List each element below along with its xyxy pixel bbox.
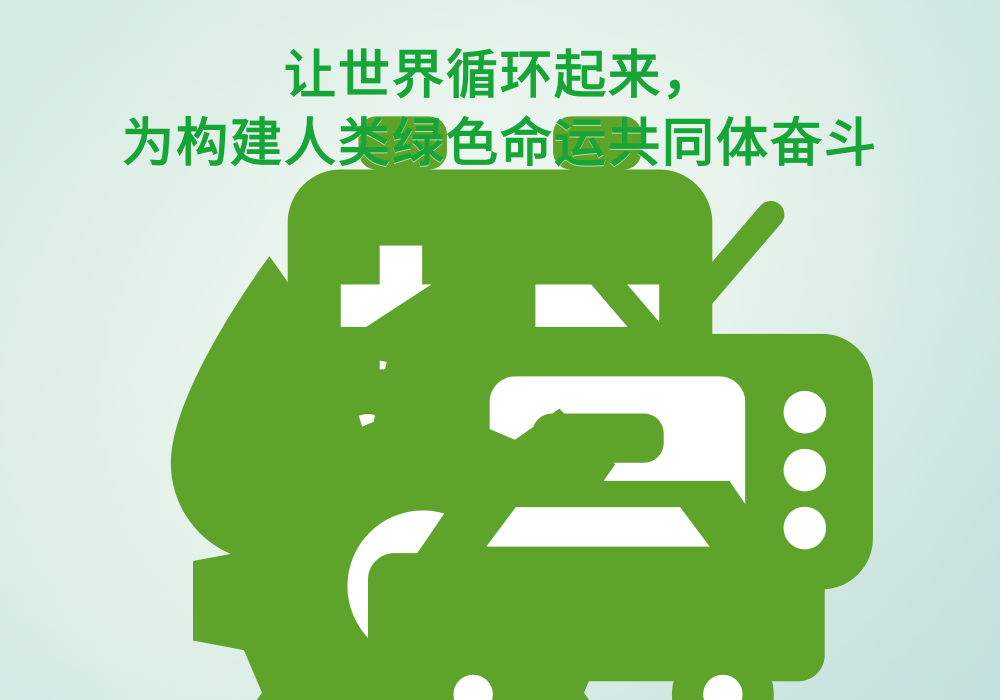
circular-economy-diagram: 废品回收 再利用 材料再造 新能源制品 含金属制造 废旧电池回收 与动力电池材 … [270,218,730,678]
infographic-poster: 让世界循环起来， 为构建人类绿色命运共同体奋斗 [0,0,1000,700]
title-line-2: 为构建人类绿色命运共同体奋斗 [0,110,1000,178]
title-line-1: 让世界循环起来， [0,42,1000,110]
car-icon [368,356,828,700]
car-icon-bubble [575,563,621,609]
poster-title: 让世界循环起来， 为构建人类绿色命运共同体奋斗 [0,42,1000,178]
